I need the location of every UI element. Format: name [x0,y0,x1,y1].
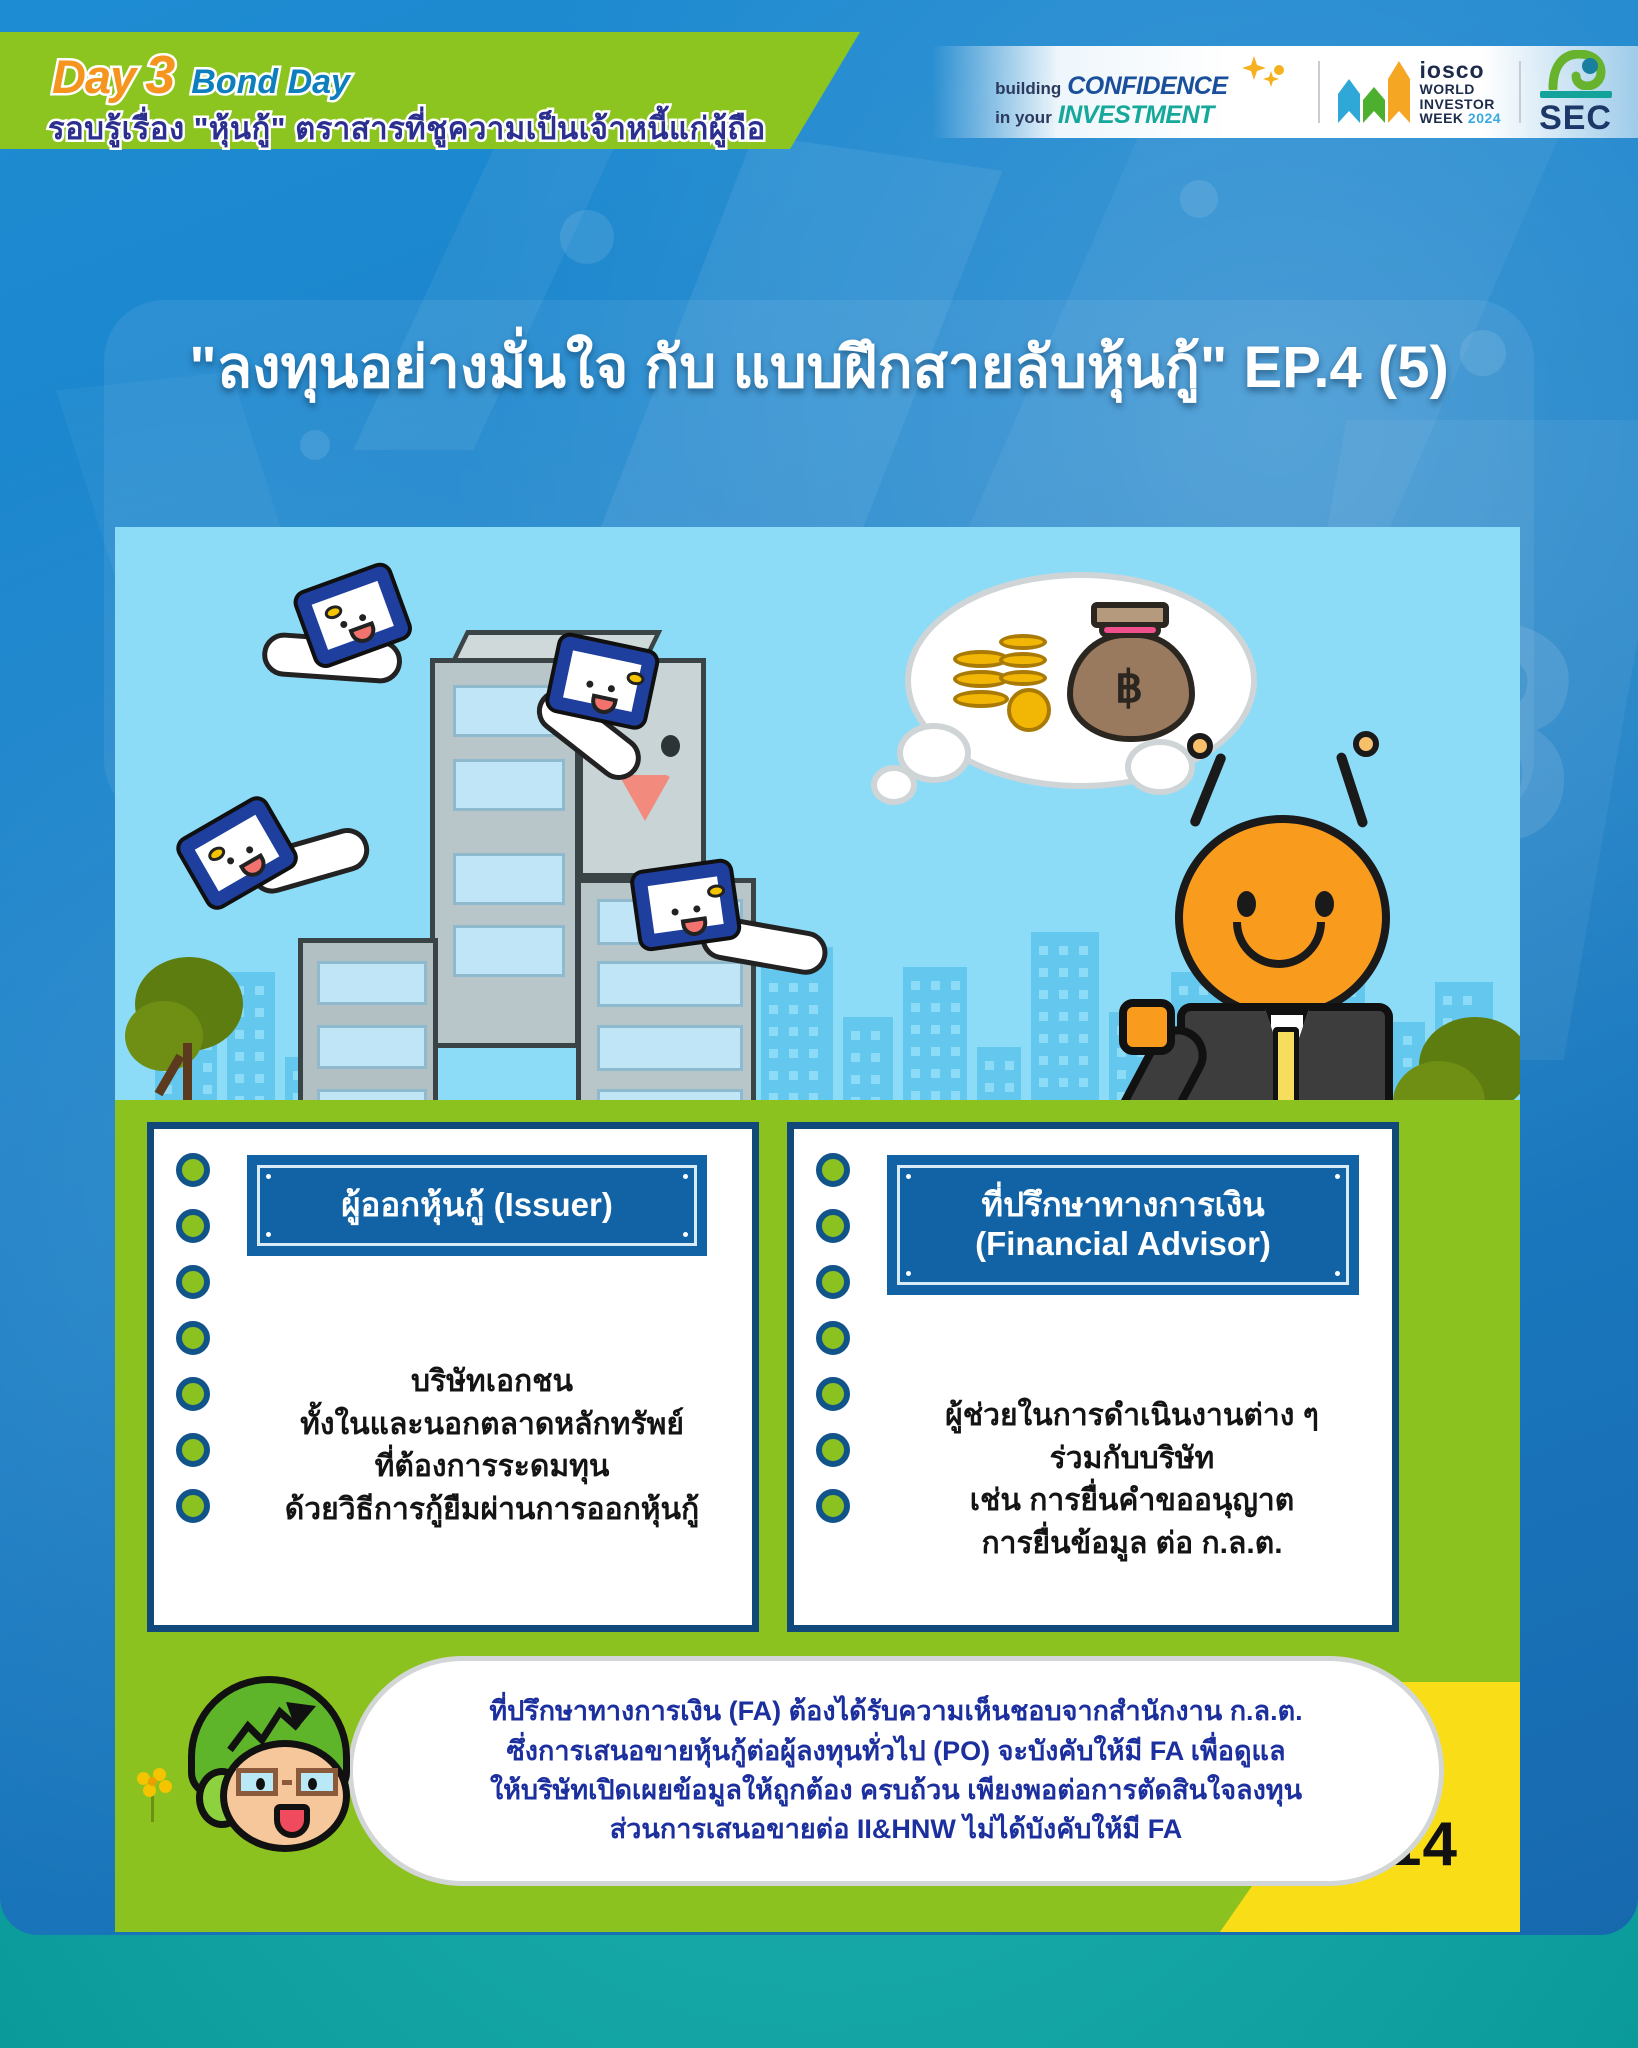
day-subtitle-en: Bond Day [191,63,350,102]
background-bokeh [1180,180,1218,218]
hole-icon [816,1433,850,1467]
note-bubble: ที่ปรึกษาทางการเงิน (FA) ต้องได้รับความเ… [348,1656,1444,1886]
day-number: 3 [145,44,175,106]
money-bag-icon: ฿ [1067,632,1195,742]
logo-divider [1318,61,1320,123]
thought-bubble-tail [871,765,917,805]
logo-divider [1519,61,1521,123]
campaign-tagline: building CONFIDENCE in your INVESTMENT [995,54,1283,130]
pencil-icons [1338,61,1410,123]
page-title: "ลงทุนอย่างมั่นใจ กับ แบบฝึกสายลับหุ้นกู… [0,320,1638,413]
iosco-line3-wrap: WEEK 2024 [1420,111,1502,125]
iosco-line2: INVESTOR [1420,97,1502,111]
background-bokeh [560,210,614,264]
day-subtitle-th: รอบรู้เรื่อง "หุ้นกู้" ตราสารที่ชูความเป… [48,103,766,153]
pencil-icon-green [1363,87,1385,123]
pencil-icon-orange [1388,61,1410,123]
hole-icon [816,1265,850,1299]
day-word: Day [52,49,135,104]
iosco-line1: WORLD [1420,82,1502,96]
hole-icon [176,1153,210,1187]
iosco-line3: WEEK [1420,110,1464,126]
sec-label: SEC [1539,101,1612,135]
card-body-text: บริษัทเอกชน ทั้งในและนอกตลาดหลักทรัพย์ ท… [232,1361,752,1531]
hole-icon [176,1265,210,1299]
tagline-building: building [995,79,1061,99]
sec-mark-icon [1545,50,1607,88]
mascot-avatar [178,1676,360,1866]
pencil-icon-blue [1338,79,1360,123]
sparkle-icon [1238,54,1284,94]
card-title-inner: ที่ปรึกษาทางการเงิน (Financial Advisor) [897,1165,1349,1285]
tagline-in-your: in your [995,108,1052,128]
hole-icon [816,1321,850,1355]
hole-icon [816,1153,850,1187]
card-issuer: ผู้ออกหุ้นกู้ (Issuer) บริษัทเอกชน ทั้งใ… [147,1122,759,1632]
infographic-poster: ฿ Day 3 Bond Day รอบรู้เรื่อง "หุ้นกู้" … [0,0,1638,1935]
ant-hand [1119,999,1175,1055]
iosco-name: iosco [1420,59,1502,82]
card-holes [816,1153,850,1523]
hole-icon [176,1433,210,1467]
logo-bar: building CONFIDENCE in your INVESTMENT [932,46,1638,138]
card-title-inner: ผู้ออกหุ้นกู้ (Issuer) [257,1165,697,1246]
hole-icon [816,1377,850,1411]
card-title-box: ที่ปรึกษาทางการเงิน (Financial Advisor) [887,1155,1359,1295]
ant-head [1175,815,1390,1020]
iosco-year: 2024 [1468,110,1501,126]
glasses-icon [236,1768,338,1796]
card-financial-advisor: ที่ปรึกษาทางการเงิน (Financial Advisor) … [787,1122,1399,1632]
hole-icon [816,1209,850,1243]
tagline-investment: INVESTMENT [1058,101,1214,130]
hole-icon [176,1209,210,1243]
iosco-text: iosco WORLD INVESTOR WEEK 2024 [1420,59,1502,125]
note-text: ที่ปรึกษาทางการเงิน (FA) ต้องได้รับความเ… [489,1692,1302,1850]
header: Day 3 Bond Day รอบรู้เรื่อง "หุ้นกู้" ตร… [0,0,1638,175]
card-title-box: ผู้ออกหุ้นกู้ (Issuer) [247,1155,707,1256]
card-body-text: ผู้ช่วยในการดำเนินงานต่าง ๆ ร่วมกับบริษั… [872,1395,1392,1565]
card-title-text: ผู้ออกหุ้นกู้ (Issuer) [341,1186,613,1223]
iosco-logo: iosco WORLD INVESTOR WEEK 2024 [1338,59,1502,125]
card-title-text: ที่ปรึกษาทางการเงิน (Financial Advisor) [975,1186,1271,1262]
hole-icon [176,1377,210,1411]
card-holes [176,1153,210,1523]
sec-logo: SEC [1539,50,1612,135]
hole-icon [176,1489,210,1523]
sec-underline [1540,91,1612,98]
gold-coin-icon [1007,688,1051,732]
hole-icon [816,1489,850,1523]
hole-icon [176,1321,210,1355]
day-title-group: Day 3 Bond Day [52,44,350,106]
tagline-confidence: CONFIDENCE [1067,72,1227,101]
